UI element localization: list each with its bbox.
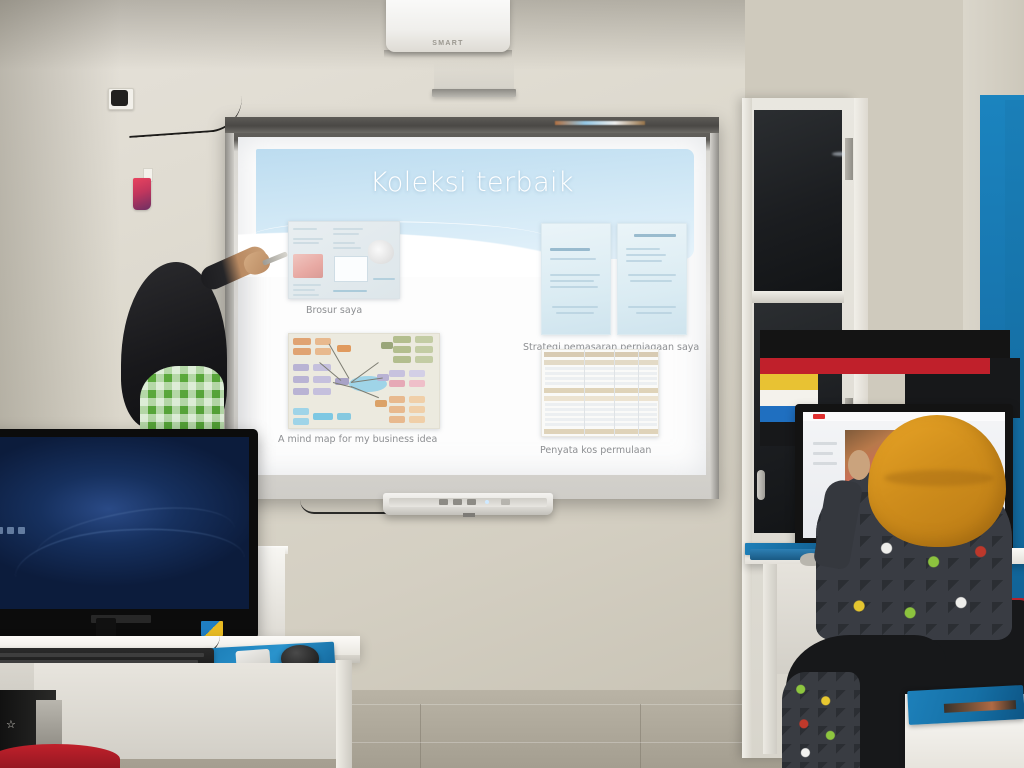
smartboard-cable: [300, 500, 390, 514]
desktop-icon[interactable]: [7, 527, 14, 534]
strategy-page-right: [617, 223, 687, 335]
startup-costs-caption: Penyata kos permulaan: [540, 445, 651, 456]
monitor-sticker: [201, 621, 223, 636]
wall-hanging-tag: [133, 178, 151, 210]
smart-projector: SMART: [386, 0, 510, 52]
hijab-fold: [884, 470, 994, 486]
classroom-scene: SMART Koleksi terbaik: [0, 0, 1024, 768]
desktop-icon[interactable]: [0, 527, 3, 534]
marketing-strategy-thumbnail: [541, 223, 689, 335]
brochure-inset: [334, 256, 368, 282]
browser-toolbar: [803, 412, 1005, 421]
brochure-thumbnail: [288, 221, 400, 299]
mind-map-caption: A mind map for my business idea: [278, 434, 437, 445]
door-mid-rail: [752, 291, 844, 303]
slide-title: Koleksi terbaik: [238, 167, 706, 198]
left-desk-leg: [336, 660, 352, 768]
board-top-frame: [225, 117, 719, 133]
projector-mount-shadow: [434, 60, 514, 90]
presenter-shirt: [140, 366, 224, 438]
seated-student-skirt: [782, 672, 860, 768]
mind-map-thumbnail: [288, 333, 440, 429]
brochure-photo: [293, 254, 323, 278]
frame-reflection: [555, 121, 645, 125]
smartboard[interactable]: Koleksi terbaik Brosur saya: [225, 117, 719, 499]
pen-tray-clip: [463, 513, 475, 517]
door-frame-left: [742, 98, 752, 758]
pc-tower-bay: [36, 700, 62, 750]
strategy-page-left: [541, 223, 611, 335]
left-monitor-screen[interactable]: [0, 437, 249, 609]
site-logo-icon: [813, 414, 825, 419]
ceiling-shadow: [0, 0, 745, 70]
left-monitor[interactable]: [0, 429, 258, 639]
desktop-icons[interactable]: [0, 527, 25, 534]
right-desk-leg: [763, 564, 777, 754]
projected-slide: Koleksi terbaik Brosur saya: [238, 137, 706, 475]
startup-costs-thumbnail: [541, 349, 659, 437]
projector-brand-label: SMART: [386, 40, 510, 47]
chair-decal-icon: ☆: [6, 718, 17, 731]
stripe-red: [760, 358, 990, 374]
projector-mount-bracket: [432, 89, 516, 97]
door-glass-upper: [754, 110, 842, 293]
brochure-caption: Brosur saya: [306, 305, 362, 316]
power-plug: [111, 90, 128, 106]
door-hinge-top: [845, 138, 853, 180]
brochure-product-photo: [368, 240, 394, 264]
stripe-yellow: [760, 374, 818, 390]
seated-student-hand: [848, 450, 870, 480]
door-handle[interactable]: [757, 470, 765, 500]
smartboard-pen-tray[interactable]: [383, 493, 553, 515]
desktop-icon[interactable]: [18, 527, 25, 534]
board-right-frame: [710, 133, 719, 499]
pen-tray-indicator: [485, 500, 489, 504]
